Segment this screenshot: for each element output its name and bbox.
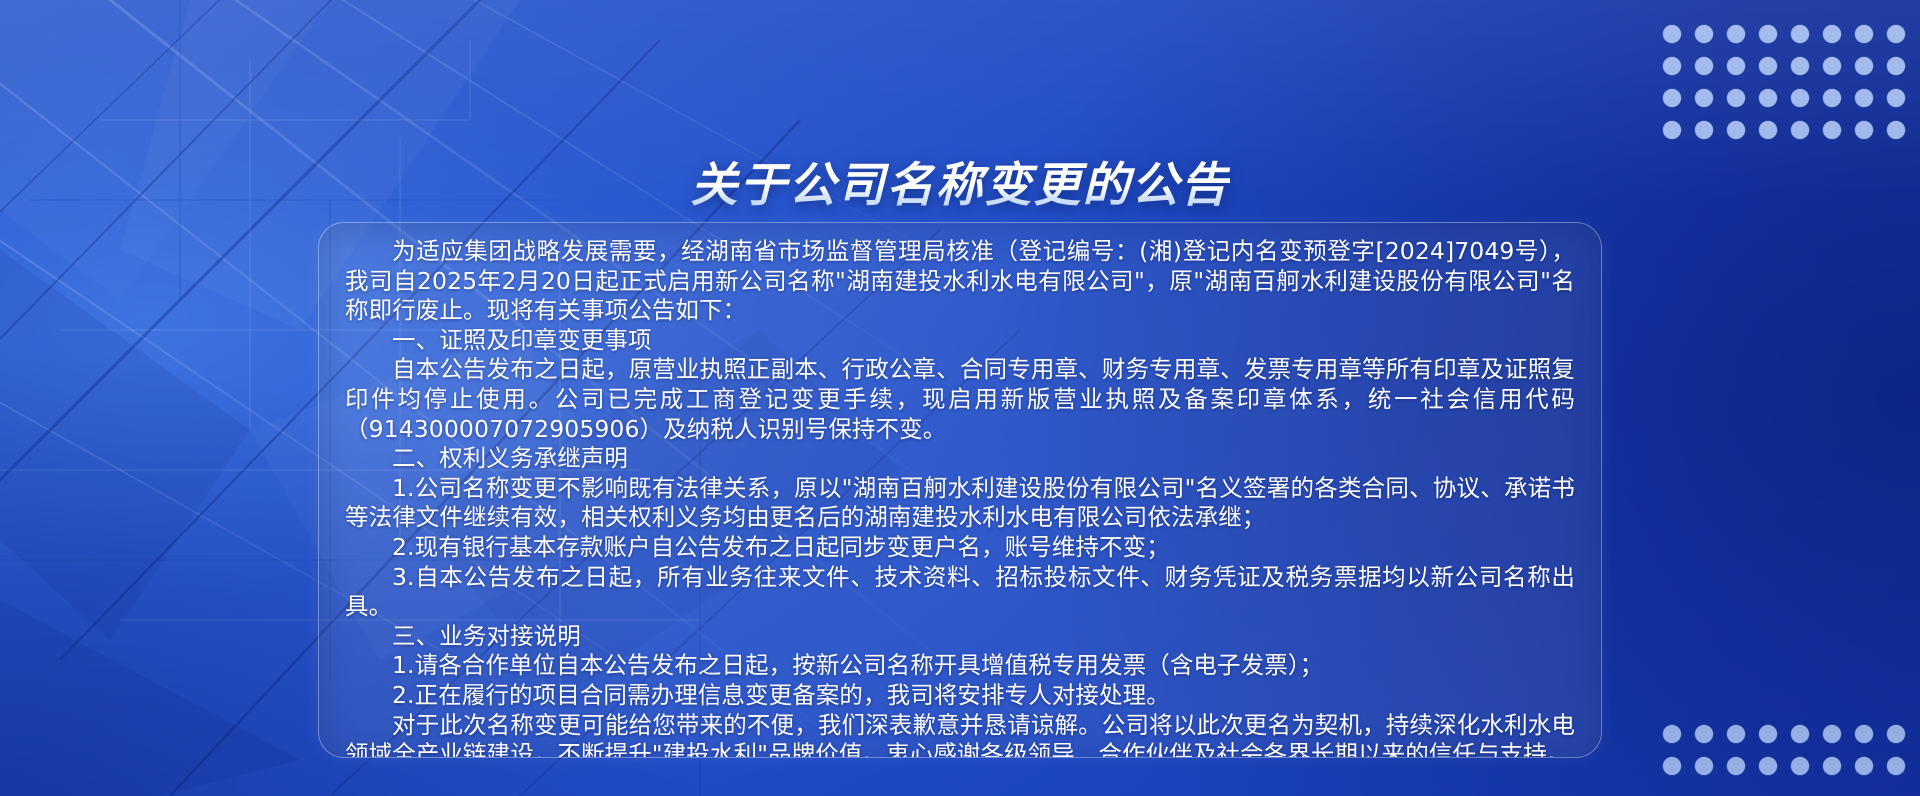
page-title: 关于公司名称变更的公告 [691,159,1230,211]
title-zone: 关于公司名称变更的公告 [0,128,1920,243]
announcement-panel: 为适应集团战略发展需要，经湖南省市场监督管理局核准（登记编号：(湘)登记内名变预… [318,222,1602,758]
paragraph-section-one: 自本公告发布之日起，原营业执照正副本、行政公章、合同专用章、财务专用章、发票专用… [345,355,1575,444]
paragraph-three-item-2: 2.正在履行的项目合同需办理信息变更备案的，我司将安排专人对接处理。 [345,681,1575,711]
paragraph-two-item-3: 3.自本公告发布之日起，所有业务往来文件、技术资料、招标投标文件、财务凭证及税务… [345,563,1575,622]
dot-grid-bottom-right-icon [1656,718,1912,786]
section-heading-one: 一、证照及印章变更事项 [345,326,1575,356]
paragraph-three-item-1: 1.请各合作单位自本公告发布之日起，按新公司名称开具增值税专用发票（含电子发票）… [345,651,1575,681]
paragraph-intro: 为适应集团战略发展需要，经湖南省市场监督管理局核准（登记编号：(湘)登记内名变预… [345,237,1575,326]
paragraph-closing: 对于此次名称变更可能给您带来的不便，我们深表歉意并恳请谅解。公司将以此次更名为契… [345,711,1575,759]
section-heading-three: 三、业务对接说明 [345,622,1575,652]
paragraph-two-item-2: 2.现有银行基本存款账户自公告发布之日起同步变更户名，账号维持不变； [345,533,1575,563]
announcement-banner: 关于公司名称变更的公告 为适应集团战略发展需要，经湖南省市场监督管理局核准（登记… [0,0,1920,796]
paragraph-two-item-1: 1.公司名称变更不影响既有法律关系，原以"湖南百舸水利建设股份有限公司"名义签署… [345,474,1575,533]
announcement-body: 为适应集团战略发展需要，经湖南省市场监督管理局核准（登记编号：(湘)登记内名变预… [319,223,1601,758]
section-heading-two: 二、权利义务承继声明 [345,444,1575,474]
